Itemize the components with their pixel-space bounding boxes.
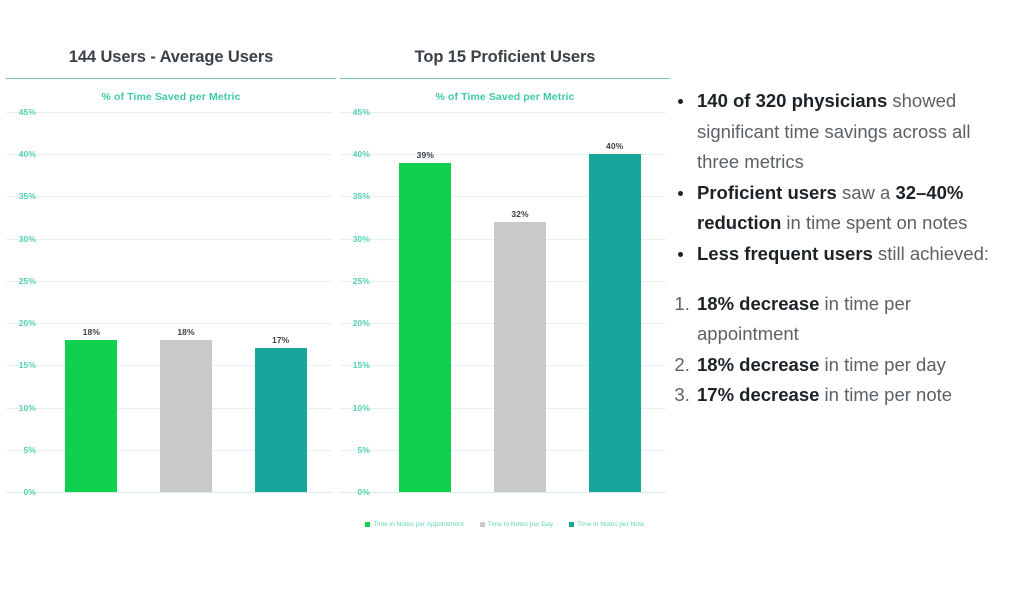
summary-bullet-list: 140 of 320 physicians showed significant… [668,86,1008,270]
summary-bullet-item: Less frequent users still achieved: [695,239,1008,270]
plot-subtitle-left: % of Time Saved per Metric [6,79,336,103]
emphasis-text: Proficient users [697,182,837,203]
bar-slot[interactable]: 39% [399,112,451,492]
y-axis-tick-label: 5% [6,445,36,455]
bar-value-label: 18% [65,327,117,337]
gridline-0pct: 0% [340,492,666,493]
y-axis-tick-label: 10% [340,403,370,413]
legend-label: Time in Notes per Appointment [373,521,463,528]
bar-slot[interactable]: 40% [589,112,641,492]
legend-label: Time in Notes per Note [577,521,645,528]
legend-label: Time in Notes per Day [488,521,553,528]
y-axis-tick-label: 30% [340,234,370,244]
y-axis-tick-label: 25% [6,276,36,286]
bar[interactable] [589,154,641,492]
plot-card-left: % of Time Saved per Metric 45%40%35%30%2… [6,78,336,534]
chart-title-left: 144 Users - Average Users [6,42,336,72]
legend-item[interactable]: Time in Notes per Note [569,521,645,528]
gridline-0pct: 0% [6,492,332,493]
y-axis-tick-label: 0% [6,487,36,497]
charts-region: 144 Users - Average Users % of Time Save… [0,0,668,600]
plot-area-right: 45%40%35%30%25%20%15%10%5%0% 39%32%40% [340,112,670,492]
y-axis-tick-label: 45% [340,107,370,117]
y-axis-tick-label: 0% [340,487,370,497]
summary-bullet-item: 140 of 320 physicians showed significant… [695,86,1008,178]
bar[interactable] [494,222,546,492]
summary-numbered-list: 18% decrease in time per appointment18% … [668,289,1008,411]
bar-slot[interactable]: 18% [65,112,117,492]
slide-root: 144 Users - Average Users % of Time Save… [0,0,1024,600]
legend-swatch-icon [569,522,574,527]
y-axis-tick-label: 25% [340,276,370,286]
emphasis-text: Less frequent users [697,243,873,264]
y-axis-tick-label: 35% [340,191,370,201]
bar-value-label: 17% [255,335,307,345]
summary-text-column: 140 of 320 physicians showed significant… [668,86,1008,411]
emphasis-text: 18% decrease [697,293,819,314]
emphasis-text: 17% decrease [697,384,819,405]
bar[interactable] [255,348,307,492]
bar-slot[interactable]: 17% [255,112,307,492]
emphasis-text: 18% decrease [697,354,819,375]
y-axis-tick-label: 5% [340,445,370,455]
y-axis-tick-label: 15% [6,360,36,370]
legend-swatch-icon [480,522,485,527]
plot-card-right: % of Time Saved per Metric 45%40%35%30%2… [340,78,670,534]
plot-area-left: 45%40%35%30%25%20%15%10%5%0% 18%18%17% [6,112,336,492]
bar[interactable] [399,163,451,492]
bar-slot[interactable]: 32% [494,112,546,492]
y-axis-tick-label: 10% [6,403,36,413]
summary-numbered-item: 17% decrease in time per note [695,380,1008,411]
y-axis-tick-label: 30% [6,234,36,244]
bar-group-right: 39%32%40% [378,112,662,492]
bar-value-label: 18% [160,327,212,337]
y-axis-tick-label: 45% [6,107,36,117]
legend-swatch-icon [365,522,370,527]
y-axis-tick-label: 20% [6,318,36,328]
y-axis-tick-label: 15% [340,360,370,370]
summary-bullet-item: Proficient users saw a 32–40% reduction … [695,178,1008,239]
emphasis-text: 140 of 320 physicians [697,90,887,111]
plot-subtitle-right: % of Time Saved per Metric [340,79,670,103]
legend-item[interactable]: Time in Notes per Day [480,521,553,528]
y-axis-tick-label: 40% [6,149,36,159]
bar[interactable] [160,340,212,492]
y-axis-tick-label: 40% [340,149,370,159]
bar[interactable] [65,340,117,492]
bar-group-left: 18%18%17% [44,112,328,492]
bar-value-label: 39% [399,150,451,160]
chart-legend-right: Time in Notes per AppointmentTime in Not… [340,521,670,528]
bar-slot[interactable]: 18% [160,112,212,492]
summary-numbered-item: 18% decrease in time per appointment [695,289,1008,350]
chart-title-right: Top 15 Proficient Users [340,42,670,72]
bar-value-label: 32% [494,209,546,219]
y-axis-tick-label: 20% [340,318,370,328]
chart-panel-proficient-users: Top 15 Proficient Users % of Time Saved … [340,42,670,542]
y-axis-tick-label: 35% [6,191,36,201]
legend-item[interactable]: Time in Notes per Appointment [365,521,463,528]
summary-numbered-item: 18% decrease in time per day [695,350,1008,381]
bar-value-label: 40% [589,141,641,151]
chart-panel-average-users: 144 Users - Average Users % of Time Save… [6,42,336,542]
